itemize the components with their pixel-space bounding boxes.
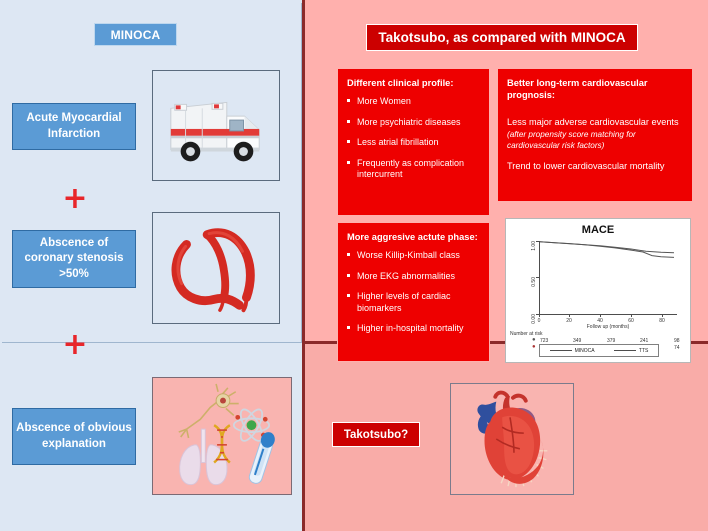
legend-label: TTS bbox=[639, 348, 648, 354]
box-heading: Different clinical profile: bbox=[347, 77, 480, 89]
list-item: Frequently as complication intercurrent bbox=[347, 158, 480, 181]
minoca-title-box: MINOCA bbox=[94, 23, 177, 46]
criterion-no-coronary-stenosis: Abscence of coronary stenosis >50% bbox=[12, 230, 136, 288]
heart-illustration bbox=[451, 384, 573, 494]
mace-survival-chart: MACE 1.00 0.50 0.00 0 20 40 60 80 Follow… bbox=[505, 218, 691, 363]
heart-image-frame bbox=[450, 383, 574, 495]
different-clinical-profile-box: Different clinical profile: More Women M… bbox=[337, 68, 490, 216]
chart-legend: MINOCA TTS bbox=[539, 344, 659, 357]
criterion-acute-myocardial-infarction: Acute Myocardial Infarction bbox=[12, 103, 136, 150]
list-item: Less atrial fibrillation bbox=[347, 137, 480, 149]
takotsubo-question-box: Takotsubo? bbox=[332, 422, 420, 447]
criterion-no-obvious-explanation: Abscence of obvious explanation bbox=[12, 408, 136, 465]
risk-count: 74 bbox=[674, 345, 692, 351]
list-item: Worse Killip-Kimball class bbox=[347, 250, 480, 262]
ambulance-illustration bbox=[153, 71, 279, 180]
list-item: More Women bbox=[347, 96, 480, 108]
plus-connector-2: + bbox=[62, 330, 88, 360]
legend-line-icon bbox=[550, 350, 572, 351]
clinical-profile-bullet-list: More Women More psychiatric diseases Les… bbox=[347, 96, 480, 181]
legend-label: MINOCA bbox=[575, 348, 595, 354]
criterion-label: Abscence of coronary stenosis >50% bbox=[16, 236, 132, 283]
criterion-label: Acute Myocardial Infarction bbox=[16, 111, 132, 142]
takotsubo-question-label: Takotsubo? bbox=[344, 429, 408, 441]
coronary-arteries-illustration bbox=[153, 213, 279, 323]
prognosis-line-2-note: (after propensity score matching for car… bbox=[507, 130, 683, 152]
ambulance-image-frame bbox=[152, 70, 280, 181]
more-aggressive-acute-phase-box: More aggresive actute phase: Worse Killi… bbox=[337, 222, 490, 362]
list-item: Higher levels of cardiac biomarkers bbox=[347, 291, 480, 314]
minoca-title-label: MINOCA bbox=[111, 28, 161, 42]
series-marker-tts: ● bbox=[532, 345, 536, 350]
legend-entry-minoca: MINOCA bbox=[550, 348, 595, 354]
differential-diagnosis-image-frame bbox=[152, 377, 292, 495]
criterion-label: Abscence of obvious explanation bbox=[16, 421, 132, 452]
number-at-risk-title: Number at risk bbox=[510, 331, 543, 337]
plus-connector-1: + bbox=[62, 184, 88, 214]
risk-count: 98 bbox=[674, 338, 692, 344]
box-heading: Better long-term cardiovascular prognosi… bbox=[507, 77, 683, 101]
series-marker-minoca: ● bbox=[532, 338, 536, 343]
spacer bbox=[507, 152, 683, 161]
list-item: Higher in-hospital mortality bbox=[347, 323, 480, 335]
legend-entry-tts: TTS bbox=[614, 348, 648, 354]
coronary-image-frame bbox=[152, 212, 280, 324]
list-item: More psychiatric diseases bbox=[347, 117, 480, 129]
comparison-banner: Takotsubo, as compared with MINOCA bbox=[366, 24, 638, 51]
legend-line-icon bbox=[614, 350, 636, 351]
acute-phase-bullet-list: Worse Killip-Kimball class More EKG abno… bbox=[347, 250, 480, 335]
prognosis-line-1: Less major adverse cardiovascular events bbox=[507, 117, 683, 129]
better-long-term-prognosis-box: Better long-term cardiovascular prognosi… bbox=[497, 68, 693, 202]
box-heading: More aggresive actute phase: bbox=[347, 231, 480, 243]
comparison-banner-label: Takotsubo, as compared with MINOCA bbox=[378, 30, 625, 45]
prognosis-line-3: Trend to lower cardiovascular mortality bbox=[507, 161, 683, 173]
differential-diagnosis-illustration bbox=[153, 378, 291, 494]
infographic-canvas: MINOCA Acute Myocardial Infarction + Abs… bbox=[0, 0, 708, 531]
list-item: More EKG abnormalities bbox=[347, 271, 480, 283]
spacer bbox=[507, 108, 683, 117]
